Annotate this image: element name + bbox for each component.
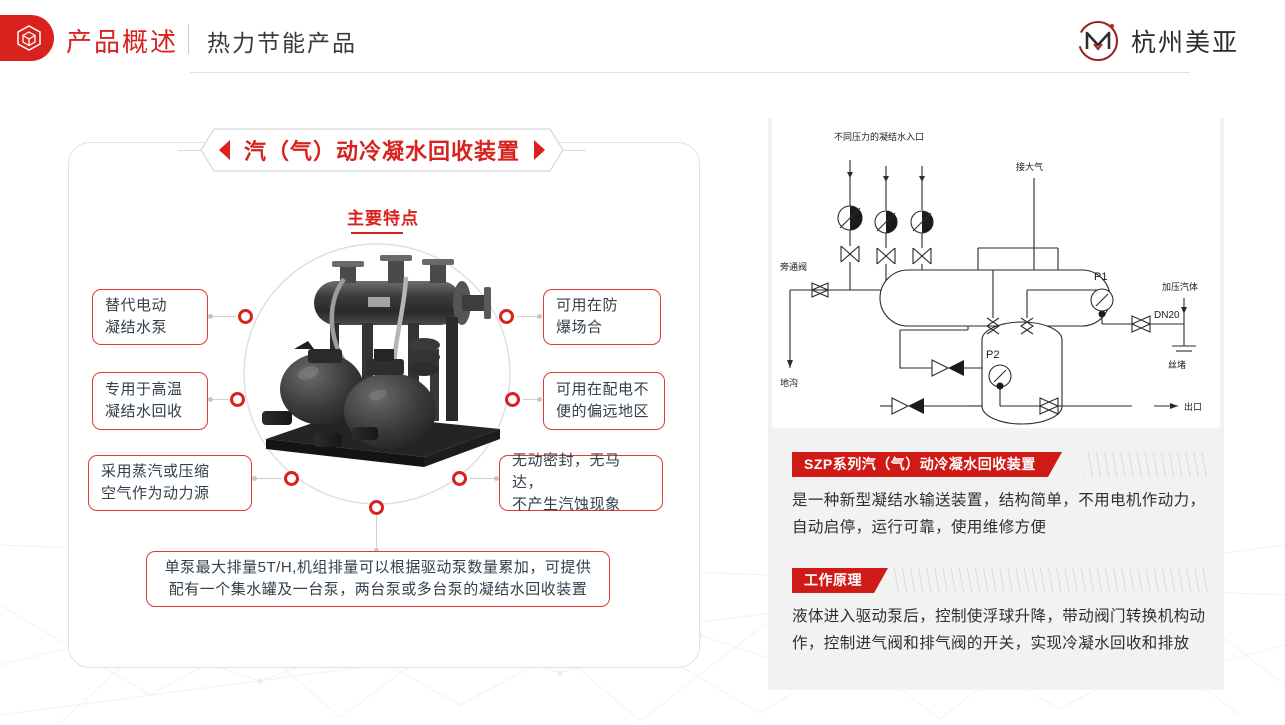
feature-box-1[interactable]: 替代电动 凝结水泵: [92, 289, 208, 345]
feature-line: 可用在防: [556, 295, 648, 317]
section-body-line: 自动启停，运行可靠，使用维修方便: [792, 515, 1208, 542]
diagram-label-p2: P2: [986, 349, 999, 361]
szp-condensate-recovery-schematic: 不同压力的凝结水入口 旁通阀 接大气 地沟 P1 P2 DN20 加压汽体 丝堵…: [772, 118, 1220, 428]
brand-lockup: 杭州美亚: [1075, 18, 1239, 64]
diagram-label-to-atmosphere: 接大气: [1016, 161, 1043, 172]
feature-box-3[interactable]: 采用蒸汽或压缩 空气作为动力源: [88, 455, 252, 511]
header-badge: [0, 15, 54, 61]
connector-3: [256, 478, 282, 479]
section-body-line: 作，控制进气阀和排气阀的开关，实现冷凝水回收和排放: [792, 631, 1208, 658]
diagram-label-dn20: DN20: [1154, 310, 1180, 321]
feature-node-7[interactable]: [369, 500, 384, 515]
connector-dot-3: [252, 476, 257, 481]
feature-line: 凝结水泵: [105, 317, 195, 339]
header-divider: [188, 24, 189, 54]
connector-dot-4: [537, 314, 542, 319]
diagram-label-drain: 地沟: [780, 377, 798, 388]
section-body-line: 液体进入驱动泵后，控制使浮球升降，带动阀门转换机构动: [792, 604, 1208, 631]
connector-dot-5: [537, 397, 542, 402]
feature-node-3[interactable]: [284, 471, 299, 486]
product-photo: [256, 253, 510, 475]
feature-box-4[interactable]: 可用在防 爆场合: [543, 289, 661, 345]
summary-line: 单泵最大排量5T/H,机组排量可以根据驱动泵数量累加，可提供: [159, 557, 597, 579]
feature-line: 空气作为动力源: [101, 483, 239, 505]
connector-dot-2: [208, 397, 213, 402]
section-tag-principle: 工作原理: [792, 568, 888, 593]
diagram-label-outlet: 出口: [1184, 401, 1202, 412]
feature-node-1[interactable]: [238, 309, 253, 324]
feature-line: 无动密封，无马达，: [512, 450, 650, 494]
section-szp-intro: SZP系列汽（气）动冷凝水回收装置 是一种新型凝结水输送装置，结构简单，不用电机…: [792, 452, 1208, 541]
page-title: 产品概述: [66, 22, 178, 59]
feature-node-2[interactable]: [230, 392, 245, 407]
summary-line: 配有一个集水罐及一台泵，两台泵或多台泵的凝结水回收装置: [159, 579, 597, 601]
feature-line: 专用于高温: [105, 379, 195, 401]
connector-2: [212, 399, 228, 400]
header-underline: [190, 72, 1190, 73]
feature-line: 采用蒸汽或压缩: [101, 461, 239, 483]
main-feature-heading: 主要特点: [68, 204, 698, 229]
section-hatch-2: [890, 568, 1208, 593]
feature-box-summary[interactable]: 单泵最大排量5T/H,机组排量可以根据驱动泵数量累加，可提供 配有一个集水罐及一…: [146, 551, 610, 607]
feature-line: 凝结水回收: [105, 401, 195, 423]
page-header: 产品概述 热力节能产品 杭州美亚: [0, 0, 1285, 80]
feature-box-6[interactable]: 无动密封，无马达， 不产生汽蚀现象: [499, 455, 663, 511]
page-subtitle: 热力节能产品: [207, 24, 357, 58]
diagram-label-pressurized-gas: 加压汽体: [1162, 281, 1198, 292]
diagram-label-p1: P1: [1094, 271, 1107, 283]
feature-line: 替代电动: [105, 295, 195, 317]
diagram-label-thread-plug: 丝堵: [1168, 359, 1186, 370]
feature-line: 可用在配电不: [556, 379, 652, 401]
ribbon-banner: 汽（气）动冷凝水回收装置: [200, 128, 564, 172]
ribbon-title: 汽（气）动冷凝水回收装置: [200, 128, 564, 172]
section-tag-szp: SZP系列汽（气）动冷凝水回收装置: [792, 452, 1062, 477]
feature-line: 爆场合: [556, 317, 648, 339]
section-working-principle: 工作原理 液体进入驱动泵后，控制使浮球升降，带动阀门转换机构动 作，控制进气阀和…: [792, 568, 1208, 657]
connector-1: [212, 316, 236, 317]
feature-line: 便的偏远地区: [556, 401, 652, 423]
feature-box-2[interactable]: 专用于高温 凝结水回收: [92, 372, 208, 430]
section-body-szp: 是一种新型凝结水输送装置，结构简单，不用电机作动力， 自动启停，运行可靠，使用维…: [792, 488, 1208, 541]
meiya-m-logo-icon: [1075, 18, 1121, 64]
feature-line: 不产生汽蚀现象: [512, 494, 650, 516]
feature-box-5[interactable]: 可用在配电不 便的偏远地区: [543, 372, 665, 430]
feature-node-6[interactable]: [452, 471, 467, 486]
section-hatch-1: [1084, 452, 1208, 477]
feature-node-4[interactable]: [499, 309, 514, 324]
main-feature-underline: [351, 232, 403, 234]
section-body-line: 是一种新型凝结水输送装置，结构简单，不用电机作动力，: [792, 488, 1208, 515]
slide-page: 产品概述 热力节能产品 杭州美亚 汽（气）动冷凝水回收装置 主要特点: [0, 0, 1285, 725]
diagram-label-bypass-valve: 旁通阀: [780, 261, 807, 272]
connector-7: [376, 515, 377, 551]
section-body-principle: 液体进入驱动泵后，控制使浮球升降，带动阀门转换机构动 作，控制进气阀和排气阀的开…: [792, 604, 1208, 657]
brand-name: 杭州美亚: [1131, 23, 1239, 59]
feature-node-5[interactable]: [505, 392, 520, 407]
cube-hexagon-icon: [16, 24, 42, 52]
diagram-label-inlet: 不同压力的凝结水入口: [834, 131, 924, 142]
connector-dot-1: [208, 314, 213, 319]
